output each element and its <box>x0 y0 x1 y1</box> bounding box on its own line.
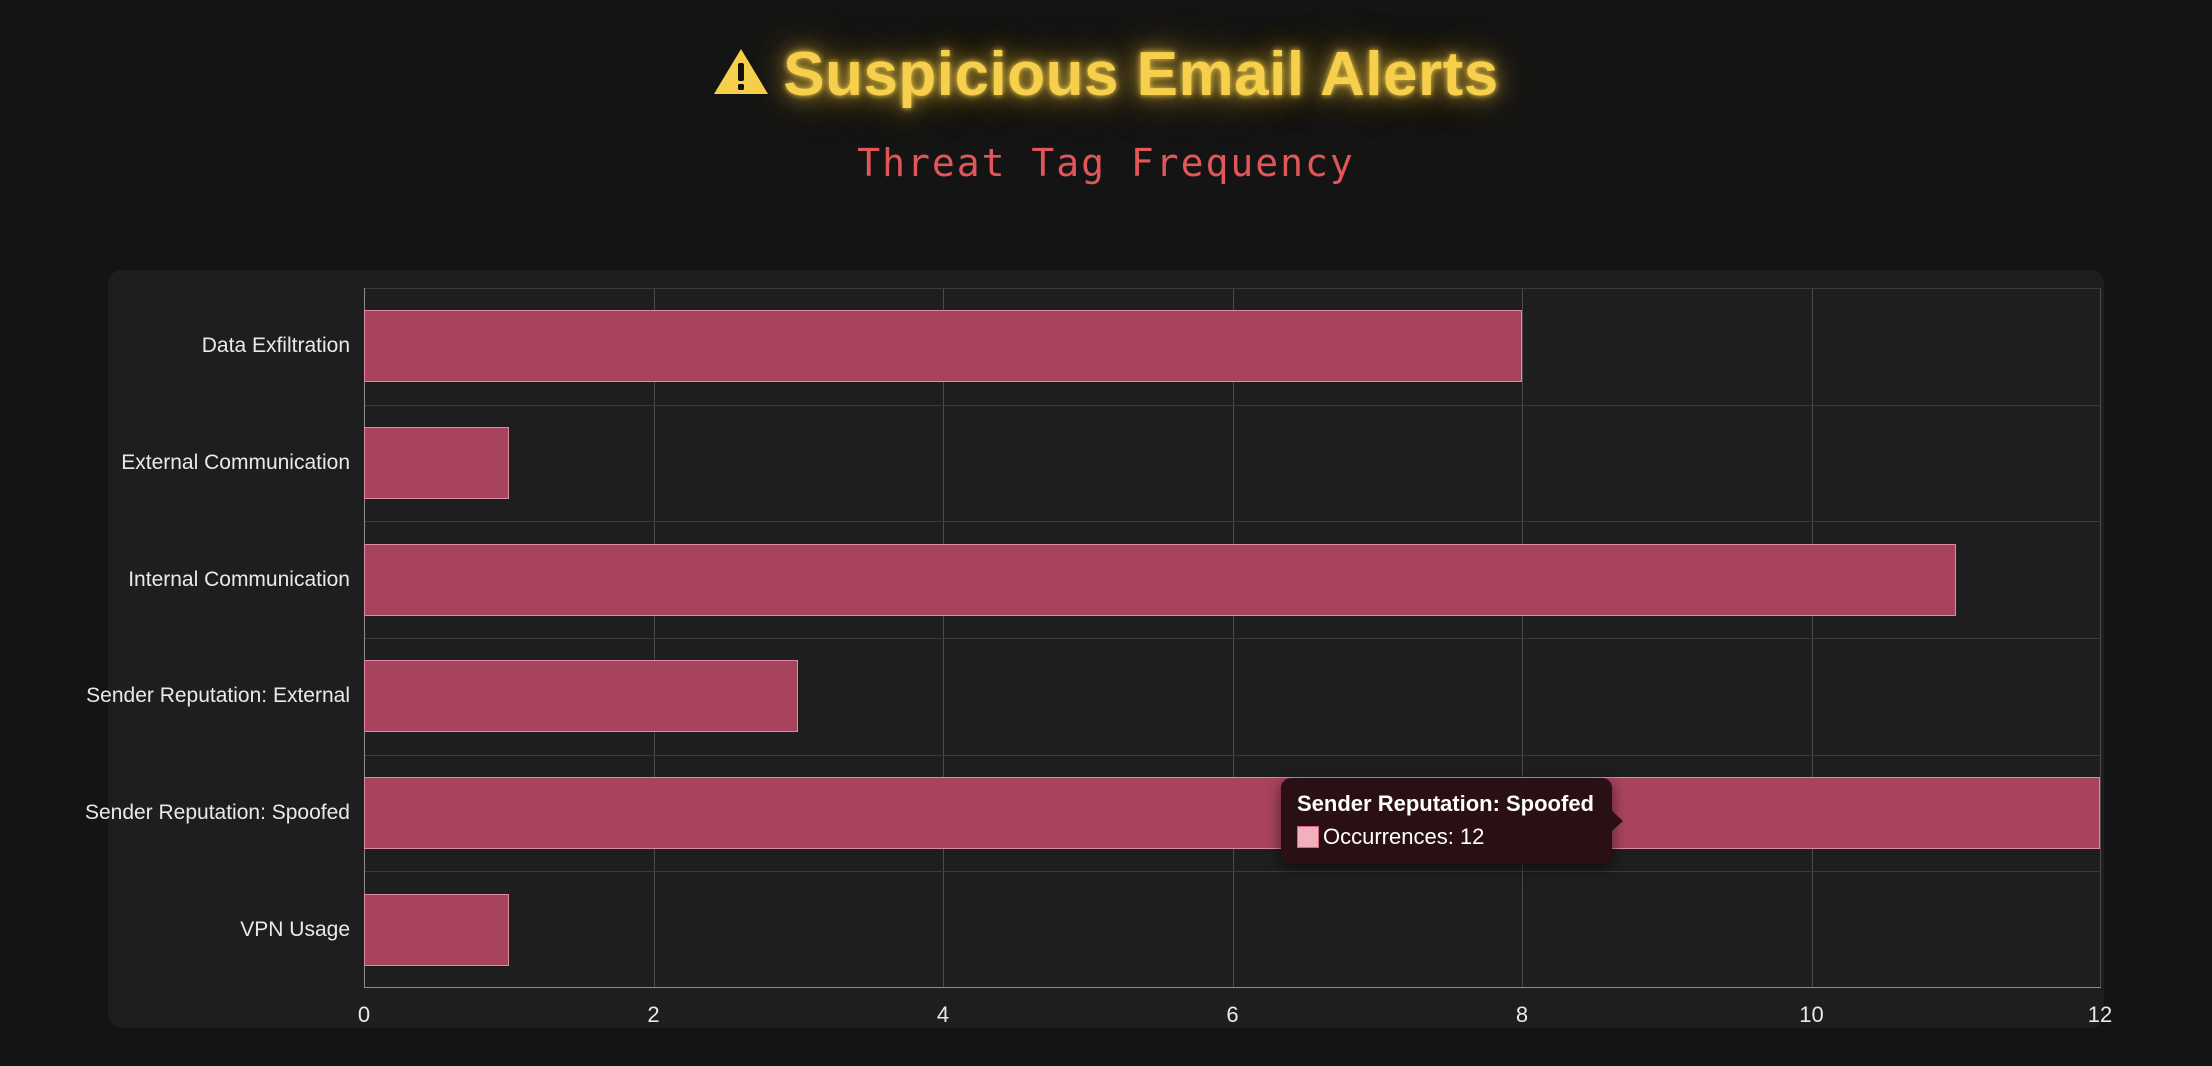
warning-triangle-icon <box>713 47 769 97</box>
tooltip-color-swatch <box>1297 826 1319 848</box>
x-tick-label-12: 12 <box>2088 1002 2112 1028</box>
chart-panel: Data Exfiltration External Communication… <box>108 270 2104 1028</box>
bar-vpn-usage[interactable] <box>364 894 509 966</box>
x-tick-label-6: 6 <box>1226 1002 1238 1028</box>
bar-row: Internal Communication <box>364 521 2101 638</box>
bar-row: VPN Usage <box>364 871 2101 988</box>
dashboard-page: Suspicious Email Alerts Threat Tag Frequ… <box>0 0 2212 1066</box>
page-header: Suspicious Email Alerts Threat Tag Frequ… <box>0 0 2212 185</box>
x-tick-label-0: 0 <box>358 1002 370 1028</box>
bar-row: Sender Reputation: Spoofed <box>364 755 2101 872</box>
bar-data-exfiltration[interactable] <box>364 310 1522 382</box>
chart-tooltip: Sender Reputation: Spoofed Occurrences: … <box>1281 778 1612 864</box>
tooltip-series-label: Occurrences: 12 <box>1323 824 1484 850</box>
x-tick-label-10: 10 <box>1799 1002 1823 1028</box>
bar-row: External Communication <box>364 405 2101 522</box>
x-tick-label-2: 2 <box>647 1002 659 1028</box>
chart-title: Threat Tag Frequency <box>0 107 2212 185</box>
plot-area: Data Exfiltration External Communication… <box>364 288 2101 988</box>
bar-internal-communication[interactable] <box>364 544 1956 616</box>
x-tick-label-8: 8 <box>1516 1002 1528 1028</box>
tooltip-series-row: Occurrences: 12 <box>1297 824 1594 850</box>
y-tick-label: VPN Usage <box>240 918 350 942</box>
bar-external-communication[interactable] <box>364 427 509 499</box>
page-title-text: Suspicious Email Alerts <box>783 40 1499 109</box>
bar-row: Sender Reputation: External <box>364 638 2101 755</box>
bar-sender-reputation-spoofed[interactable] <box>364 777 2100 849</box>
y-tick-label: External Communication <box>121 451 350 475</box>
y-tick-label: Data Exfiltration <box>202 334 350 358</box>
tooltip-title: Sender Reputation: Spoofed <box>1297 790 1594 818</box>
bar-row: Data Exfiltration <box>364 288 2101 405</box>
bar-rows: Data Exfiltration External Communication… <box>364 288 2101 988</box>
page-title: Suspicious Email Alerts <box>0 0 2212 107</box>
bar-sender-reputation-external[interactable] <box>364 660 798 732</box>
y-tick-label: Internal Communication <box>128 568 350 592</box>
x-tick-label-4: 4 <box>937 1002 949 1028</box>
y-tick-label: Sender Reputation: External <box>86 684 350 708</box>
y-tick-label: Sender Reputation: Spoofed <box>85 801 350 825</box>
